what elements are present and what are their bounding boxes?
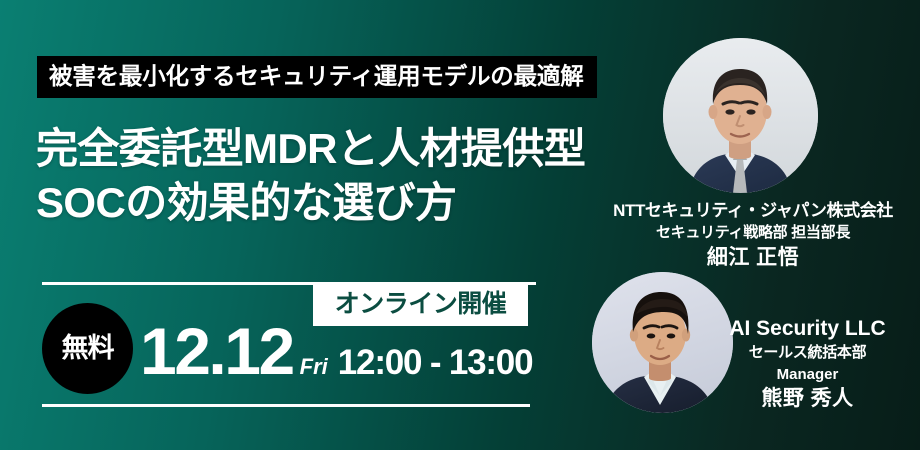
title-line-2: SOCの効果的な選び方 (36, 176, 636, 230)
free-badge: 無料 (42, 303, 133, 394)
event-date: 12.12 (140, 318, 293, 384)
event-day-of-week: Fri (300, 356, 328, 378)
speaker-1-name: 細江 正悟 (588, 244, 918, 272)
event-datetime: 12.12 Fri 12:00 - 13:00 (140, 318, 532, 384)
speaker-2-department: セールス統括本部 (700, 342, 915, 364)
speaker-1-company: NTTセキュリティ・ジャパン株式会社 (588, 200, 918, 222)
kicker-text: 被害を最小化するセキュリティ運用モデルの最適解 (49, 65, 584, 89)
speaker-2-name: 熊野 秀人 (700, 385, 915, 413)
divider-bottom (42, 404, 530, 407)
speaker-2-role: Manager (700, 364, 915, 385)
free-badge-label: 無料 (62, 335, 114, 362)
speaker-2-info: AI Security LLC セールス統括本部 Manager 熊野 秀人 (700, 316, 915, 413)
title-line-1: 完全委託型MDRと人材提供型 (36, 122, 636, 176)
kicker-band: 被害を最小化するセキュリティ運用モデルの最適解 (37, 56, 597, 98)
event-format-badge: オンライン開催 (313, 283, 528, 326)
speaker-1-avatar (663, 38, 818, 193)
event-time-range: 12:00 - 13:00 (338, 345, 533, 380)
page-title: 完全委託型MDRと人材提供型 SOCの効果的な選び方 (36, 122, 636, 230)
speaker-1-info: NTTセキュリティ・ジャパン株式会社 セキュリティ戦略部 担当部長 細江 正悟 (588, 200, 918, 272)
speaker-1-department: セキュリティ戦略部 担当部長 (588, 222, 918, 244)
webinar-banner: 被害を最小化するセキュリティ運用モデルの最適解 完全委託型MDRと人材提供型 S… (0, 0, 920, 450)
speaker-1-portrait-icon (663, 38, 818, 193)
speaker-2-company: AI Security LLC (700, 316, 915, 342)
event-format-label: オンライン開催 (335, 292, 507, 317)
